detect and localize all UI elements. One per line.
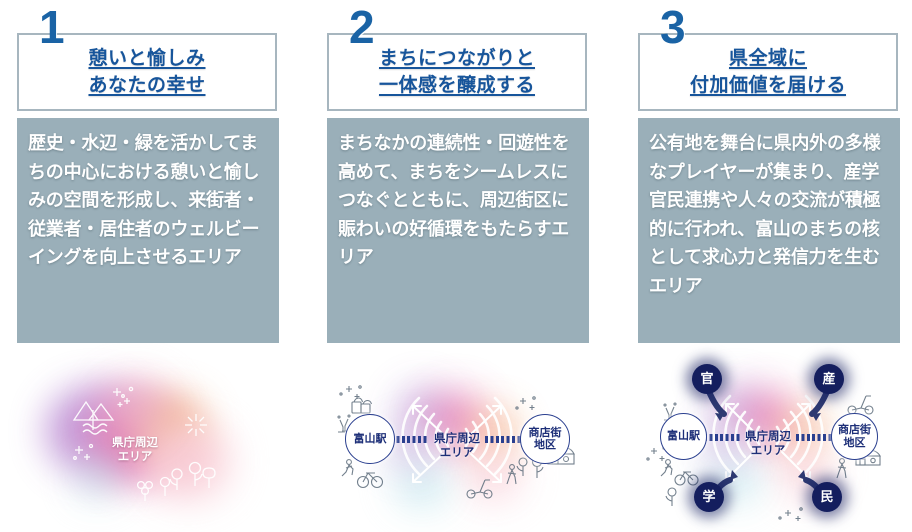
title-line-1a: 憩いと愉しみ <box>88 45 205 72</box>
node-industry-label: 産 <box>822 372 835 386</box>
node-shopping-district: 商店街 地区 <box>831 413 878 460</box>
body-box-3: 公有地を舞台に県内外の多様なプレイヤーが集まり、産学官民連携や人々の交流が積極的… <box>638 118 900 343</box>
body-box-2: まちなかの連続性・回遊性を高めて、まちをシームレスにつなぐとともに、周辺街区に賑… <box>327 118 589 343</box>
diagram-3-center-label: 県庁周辺 エリア <box>731 430 805 458</box>
diagram-2: 富山駅 商店街 地区 県庁周辺 エリア <box>327 358 589 532</box>
body-box-1: 歴史・水辺・緑を活かしてまちの中心における憩いと愉しみの空間を形成し、来街者・従… <box>17 118 279 343</box>
column-number-2: 2 <box>349 4 374 50</box>
node-shopping-district: 商店街 地区 <box>520 414 570 464</box>
node-shopping-district-label: 商店街 地区 <box>529 427 562 452</box>
body-text-2: まちなかの連続性・回遊性を高めて、まちをシームレスにつなぐとともに、周辺街区に賑… <box>338 129 579 272</box>
concept-column-1: 1 憩いと愉しみ あなたの幸せ 歴史・水辺・緑を活かしてまちの中心における憩いと… <box>17 0 279 532</box>
node-toyama-station-label: 富山駅 <box>667 430 700 443</box>
column-number-3: 3 <box>660 4 685 50</box>
node-citizens-label: 民 <box>820 490 833 504</box>
node-toyama-station: 富山駅 <box>660 413 707 460</box>
column-number-1: 1 <box>39 4 64 50</box>
diagram-3: 富山駅 商店街 地区 官 産 学 民 県庁周辺 エリア <box>638 358 900 532</box>
title-line-3b: 付加価値を届ける <box>690 72 846 99</box>
body-text-1: 歴史・水辺・緑を活かしてまちの中心における憩いと愉しみの空間を形成し、来街者・従… <box>28 129 269 272</box>
node-industry: 産 <box>814 364 844 394</box>
concept-column-2: 2 まちにつながりと 一体感を醸成する まちなかの連続性・回遊性を高めて、まちを… <box>327 0 589 532</box>
node-citizens: 民 <box>812 482 842 512</box>
node-toyama-station-label: 富山駅 <box>354 433 387 446</box>
title-line-1b: あなたの幸せ <box>88 72 205 99</box>
node-toyama-station: 富山駅 <box>345 414 395 464</box>
node-government-label: 官 <box>700 372 713 386</box>
title-line-2b: 一体感を醸成する <box>379 72 535 99</box>
three-column-concept-board: 1 憩いと愉しみ あなたの幸せ 歴史・水辺・緑を活かしてまちの中心における憩いと… <box>0 0 912 532</box>
concept-column-3: 3 県全域に 付加価値を届ける 公有地を舞台に県内外の多様なプレイヤーが集まり、… <box>638 0 900 532</box>
node-government: 官 <box>692 364 722 394</box>
node-shopping-district-label: 商店街 地区 <box>838 424 871 449</box>
title-line-3a: 県全域に <box>729 45 807 72</box>
node-academia-label: 学 <box>702 490 715 504</box>
node-academia: 学 <box>694 482 724 512</box>
diagram-2-center-label: 県庁周辺 エリア <box>420 432 494 460</box>
body-text-3: 公有地を舞台に県内外の多様なプレイヤーが集まり、産学官民連携や人々の交流が積極的… <box>649 129 890 300</box>
diagram-1: 県庁周辺 エリア <box>17 358 279 532</box>
title-line-2a: まちにつながりと <box>379 45 535 72</box>
diagram-1-center-label: 県庁周辺 エリア <box>98 436 172 464</box>
